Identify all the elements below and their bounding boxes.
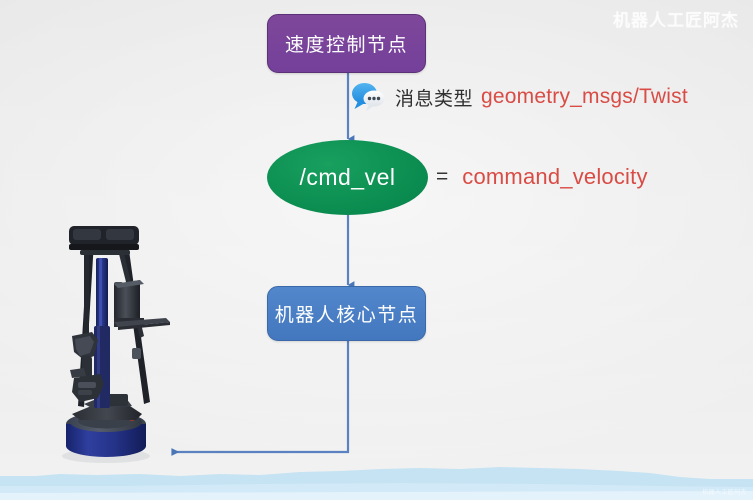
equals-sign: = xyxy=(436,165,448,189)
core-node[interactable]: 机器人核心节点 xyxy=(267,286,426,341)
speech-bubble-icon xyxy=(350,81,386,113)
watermark-small: 机器人工匠阿杰 xyxy=(702,490,747,497)
topic-alias-annotation: = command_velocity xyxy=(436,161,648,193)
slide-canvas: 速度控制节点 /cmd_vel 机器人核心节点 xyxy=(0,0,753,500)
message-type-value: geometry_msgs/Twist xyxy=(481,85,688,109)
message-type-label: 消息类型 xyxy=(395,84,473,111)
watermark: 机器人工匠阿杰 xyxy=(613,6,739,31)
publisher-node[interactable]: 速度控制节点 xyxy=(267,14,426,73)
topic-node[interactable]: /cmd_vel xyxy=(267,140,428,215)
topic-alias-value: command_velocity xyxy=(462,164,647,190)
message-type-annotation: 消息类型 geometry_msgs/Twist xyxy=(350,78,688,116)
robot-photo xyxy=(44,218,184,470)
